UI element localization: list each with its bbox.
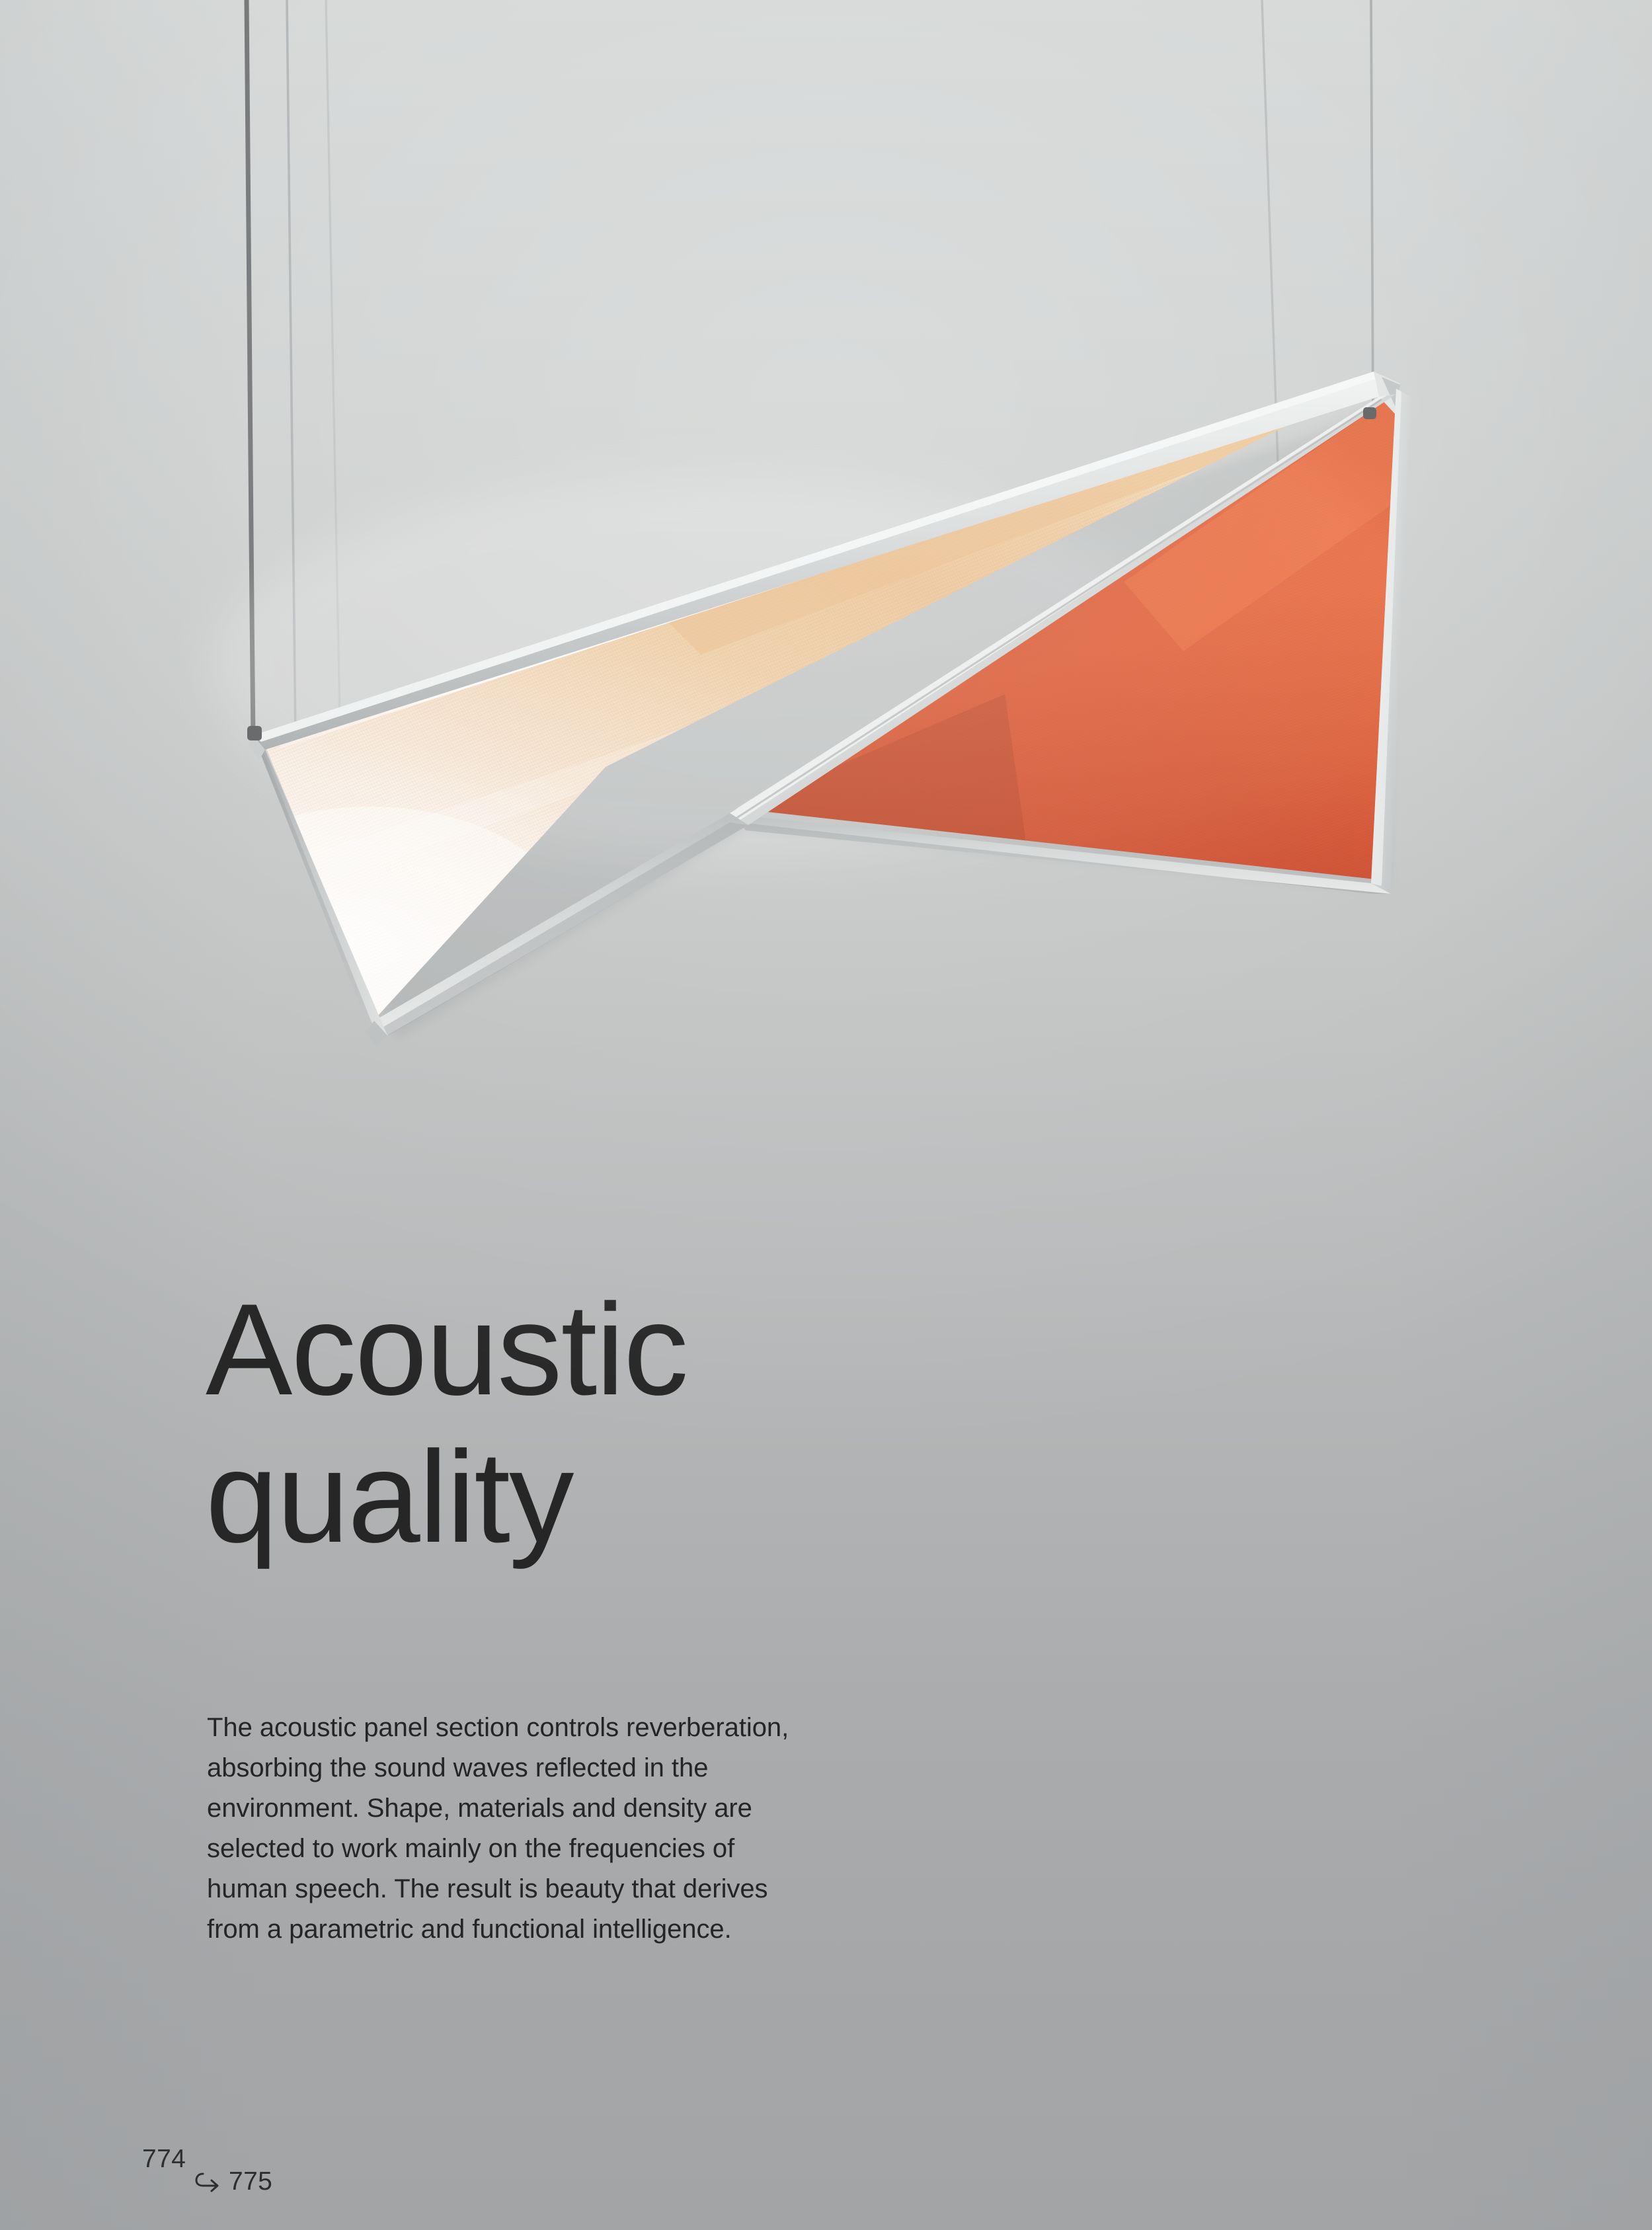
- body-line-6: from a parametric and functional intelli…: [207, 1909, 860, 1950]
- turn-right-arrow-icon: [194, 2170, 223, 2193]
- body-line-4: selected to work mainly on the frequenci…: [207, 1829, 860, 1869]
- page-number-left: 774: [142, 2145, 186, 2174]
- folio: 774 775: [142, 2145, 420, 2204]
- body-line-3: environment. Shape, materials and densit…: [207, 1788, 860, 1829]
- cable-anchor-left: [247, 726, 262, 740]
- body-line-5: human speech. The result is beauty that …: [207, 1869, 860, 1909]
- product-photograph: [0, 0, 1652, 1190]
- magazine-spread-page: Acoustic quality The acoustic panel sect…: [0, 0, 1652, 2230]
- body-paragraph: The acoustic panel section controls reve…: [207, 1708, 860, 1950]
- page-number-right: 775: [229, 2167, 272, 2196]
- cable-anchor-right: [1363, 407, 1376, 419]
- body-line-1: The acoustic panel section controls reve…: [207, 1708, 860, 1748]
- body-line-2: absorbing the sound waves reflected in t…: [207, 1748, 860, 1788]
- page-title: Acoustic quality: [206, 1276, 1131, 1570]
